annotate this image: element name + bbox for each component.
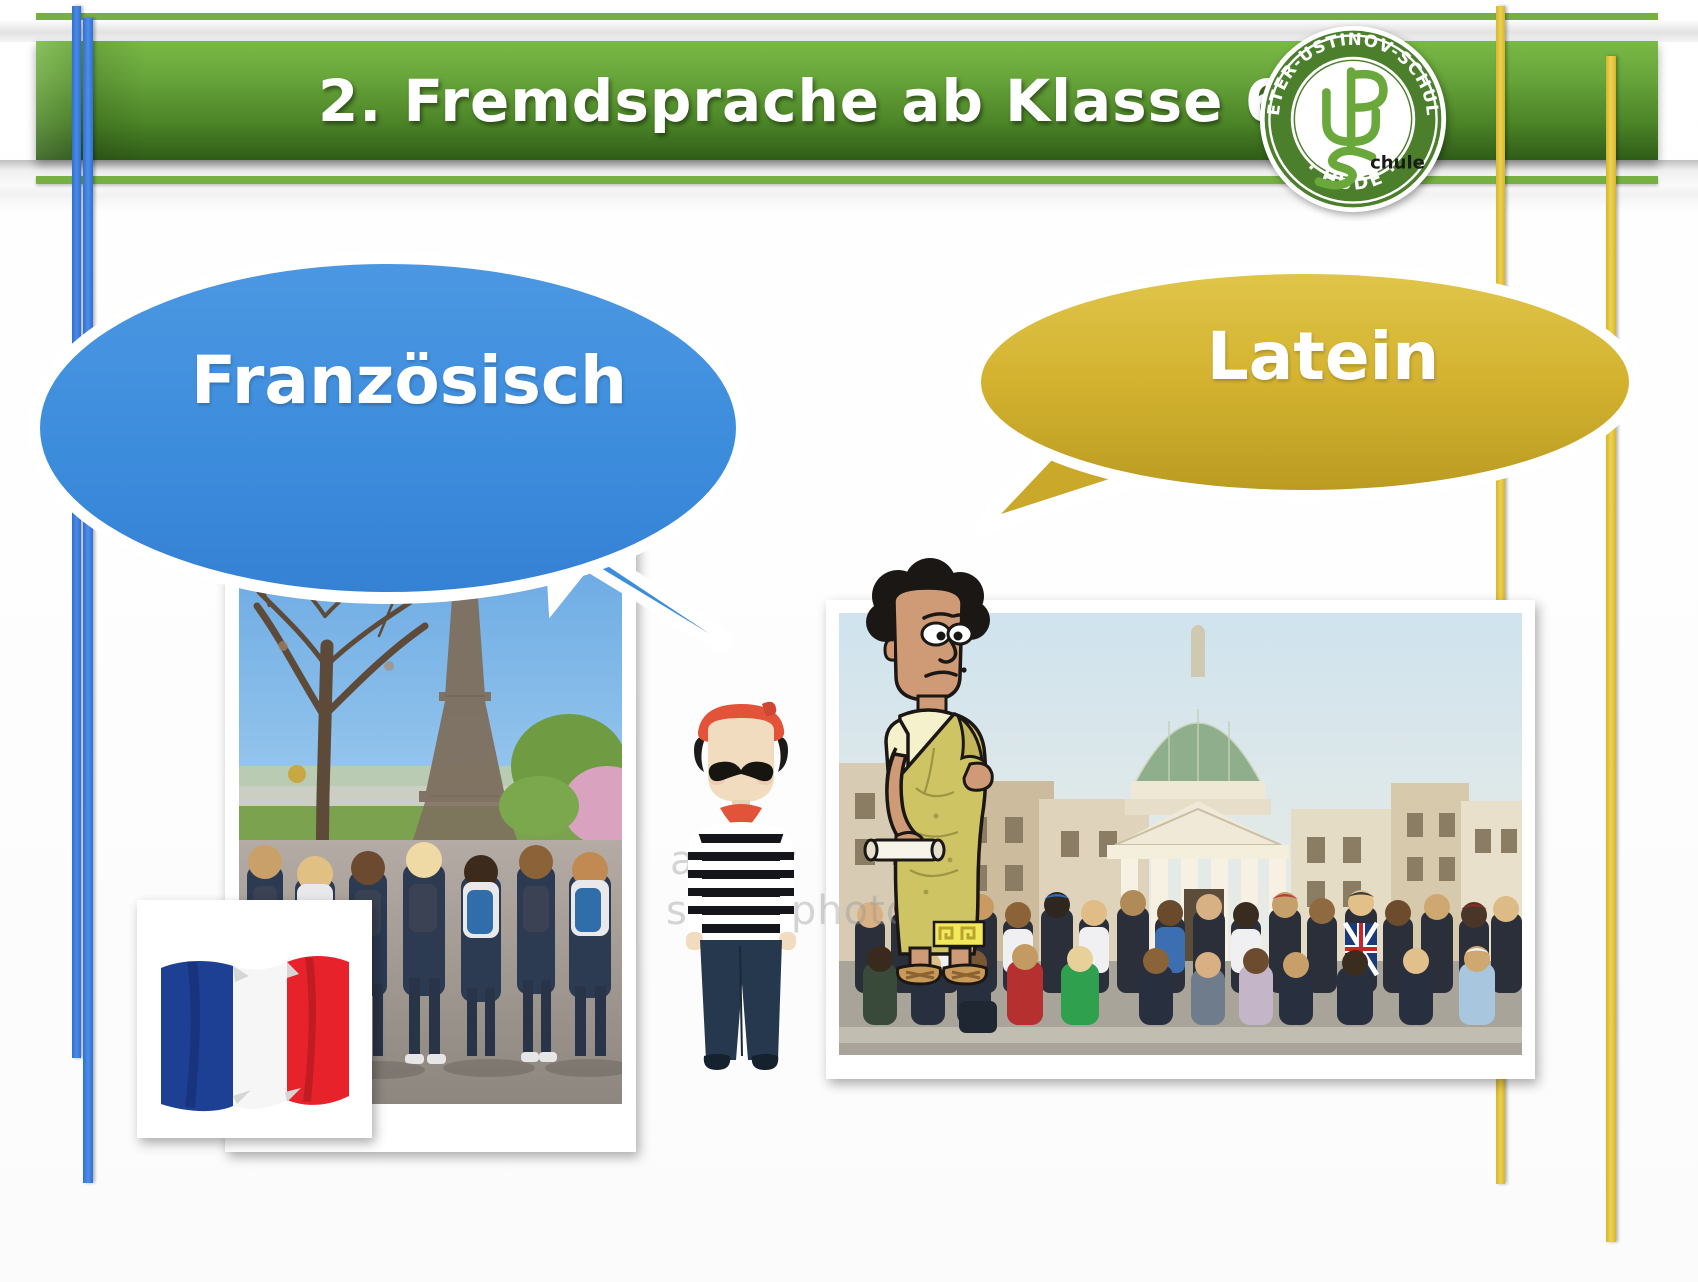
gold-line-outer	[1606, 56, 1616, 1242]
french-mime-character	[676, 684, 806, 1084]
roman-toga-character	[838, 548, 1023, 993]
french-flag-icon	[137, 900, 372, 1138]
french-speech-bubble[interactable]: Französisch	[20, 232, 762, 652]
svg-text:chule: chule	[1370, 152, 1425, 173]
school-logo: PETER-USTINOV-SCHULE · HUDE · chule	[1258, 24, 1448, 214]
french-flag-card	[137, 900, 372, 1138]
top-green-accent-line	[36, 13, 1658, 20]
latin-speech-bubble[interactable]: Latein	[945, 256, 1645, 534]
school-seal-icon: PETER-USTINOV-SCHULE · HUDE · chule	[1258, 24, 1448, 214]
slide-root: 2. Fremdsprache ab Klasse 6 PETER-USTINO…	[0, 0, 1698, 1282]
